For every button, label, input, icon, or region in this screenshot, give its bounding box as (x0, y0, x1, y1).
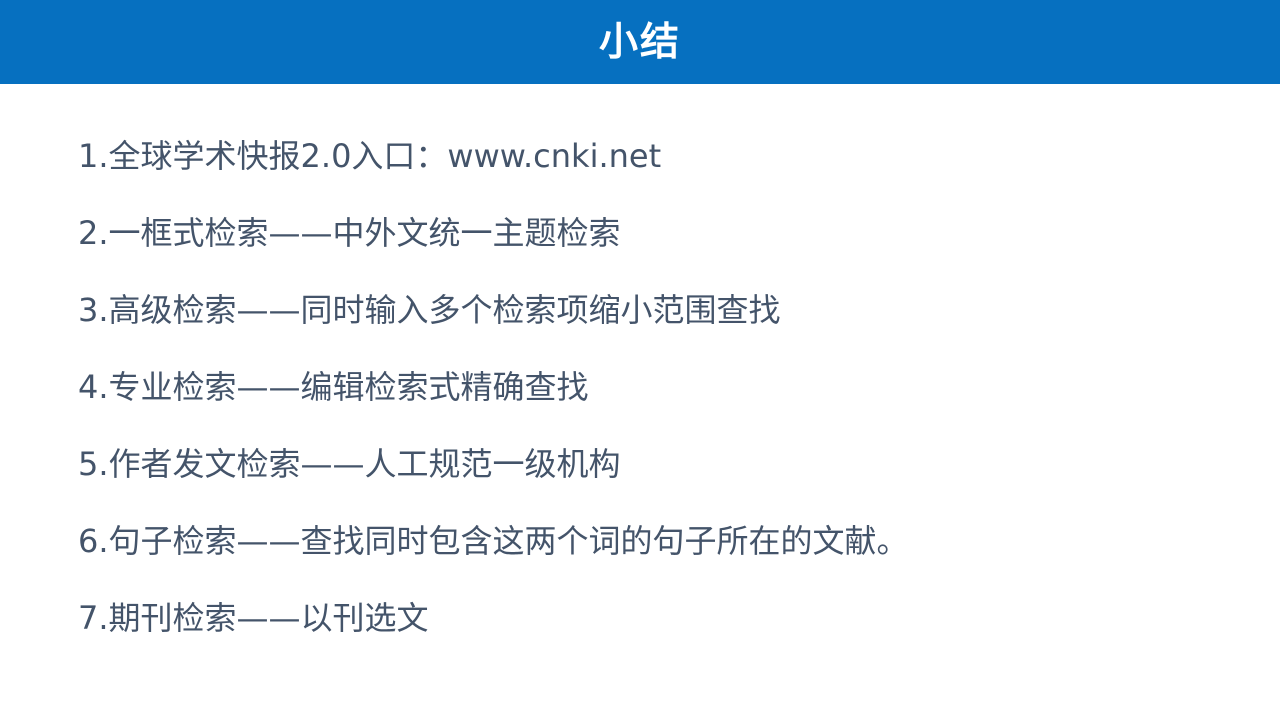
list-item-text: 4.专业检索——编辑检索式精确查找 (78, 371, 589, 403)
summary-list: 1.全球学术快报2.0入口：www.cnki.net 2.一框式检索——中外文统… (78, 140, 1218, 679)
slide-title-bar: 小结 (0, 0, 1280, 84)
slide: 小结 1.全球学术快报2.0入口：www.cnki.net 2.一框式检索——中… (0, 0, 1280, 720)
list-item-text: 7.期刊检索——以刊选文 (78, 602, 429, 634)
list-item-text: 1.全球学术快报2.0入口：www.cnki.net (78, 140, 661, 172)
list-item: 4.专业检索——编辑检索式精确查找 (78, 371, 1218, 448)
list-item: 2.一框式检索——中外文统一主题检索 (78, 217, 1218, 294)
page-title: 小结 (599, 23, 681, 62)
list-item-text: 6.句子检索——查找同时包含这两个词的句子所在的文献。 (78, 525, 909, 557)
list-item: 6.句子检索——查找同时包含这两个词的句子所在的文献。 (78, 525, 1218, 602)
list-item: 1.全球学术快报2.0入口：www.cnki.net (78, 140, 1218, 217)
list-item: 7.期刊检索——以刊选文 (78, 602, 1218, 679)
list-item-text: 5.作者发文检索——人工规范一级机构 (78, 448, 621, 480)
list-item-text: 3.高级检索——同时输入多个检索项缩小范围查找 (78, 294, 781, 326)
list-item: 3.高级检索——同时输入多个检索项缩小范围查找 (78, 294, 1218, 371)
list-item-text: 2.一框式检索——中外文统一主题检索 (78, 217, 621, 249)
list-item: 5.作者发文检索——人工规范一级机构 (78, 448, 1218, 525)
